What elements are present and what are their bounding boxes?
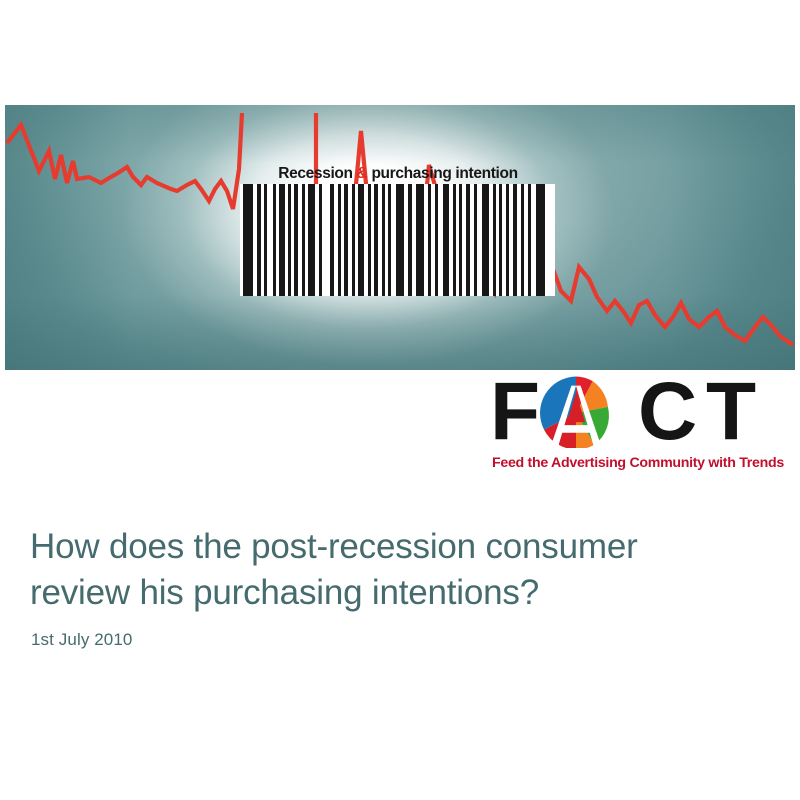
logo-letter-t: T xyxy=(706,372,754,452)
fact-logo-tagline: Feed the Advertising Community with Tren… xyxy=(492,454,792,472)
slide-root: Recession & purchasing intention F xyxy=(0,0,800,800)
barcode-bar xyxy=(521,184,524,296)
barcode-bar xyxy=(264,184,267,296)
barcode-bar xyxy=(338,184,341,296)
barcode-bar xyxy=(408,184,412,296)
barcode-bar xyxy=(257,184,261,296)
barcode-bar xyxy=(396,184,404,296)
barcode-bar xyxy=(513,184,517,296)
fact-logo-a-mark xyxy=(538,375,614,451)
page-title-line-1: How does the post-recession consumer xyxy=(30,524,750,570)
logo-letter-f: F xyxy=(490,372,538,452)
barcode-bar xyxy=(482,184,489,296)
barcode-bar xyxy=(388,184,391,296)
barcode-bar xyxy=(499,184,502,296)
hero-banner: Recession & purchasing intention xyxy=(5,105,795,370)
fact-logo-wordmark: F xyxy=(490,372,792,452)
barcode-bar xyxy=(374,184,378,296)
barcode-title-suffix: purchasing intention xyxy=(367,165,517,182)
barcode-bar xyxy=(302,184,305,296)
barcode-bar xyxy=(474,184,477,296)
barcode-bar xyxy=(243,184,253,296)
barcode-bar xyxy=(368,184,371,296)
barcode-bar xyxy=(294,184,298,296)
barcode-bar xyxy=(352,184,355,296)
barcode-bar xyxy=(288,184,291,296)
barcode-bar xyxy=(330,184,334,296)
page-title-line-2: review his purchasing intentions? xyxy=(30,570,750,616)
barcode-bar xyxy=(435,184,438,296)
barcode-bar xyxy=(382,184,385,296)
trendline-left-path xyxy=(7,113,242,209)
barcode-bar xyxy=(279,184,285,296)
barcode-title: Recession & purchasing intention xyxy=(262,163,534,185)
slide-date: 1st July 2010 xyxy=(31,628,132,652)
barcode-bar xyxy=(536,184,545,296)
barcode-bar xyxy=(459,184,462,296)
barcode-bar xyxy=(528,184,531,296)
barcode-bar xyxy=(493,184,496,296)
barcode-bar xyxy=(443,184,449,296)
fact-logo: F xyxy=(490,372,792,477)
barcode-title-prefix: Recession xyxy=(278,165,356,182)
barcode-graphic: Recession & purchasing intention xyxy=(240,158,555,298)
logo-letter-c: C xyxy=(638,372,695,452)
barcode-bar xyxy=(466,184,470,296)
barcode-bar xyxy=(453,184,456,296)
barcode-bar xyxy=(273,184,276,296)
page-title: How does the post-recession consumer rev… xyxy=(30,524,750,616)
barcode-bar xyxy=(506,184,509,296)
barcode-bars xyxy=(240,184,555,296)
barcode-bar xyxy=(416,184,424,296)
barcode-bar xyxy=(319,184,322,296)
barcode-bar xyxy=(358,184,364,296)
barcode-bar xyxy=(344,184,348,296)
barcode-title-ampersand: & xyxy=(357,165,368,182)
barcode-bar xyxy=(428,184,431,296)
barcode-bar xyxy=(308,184,315,296)
